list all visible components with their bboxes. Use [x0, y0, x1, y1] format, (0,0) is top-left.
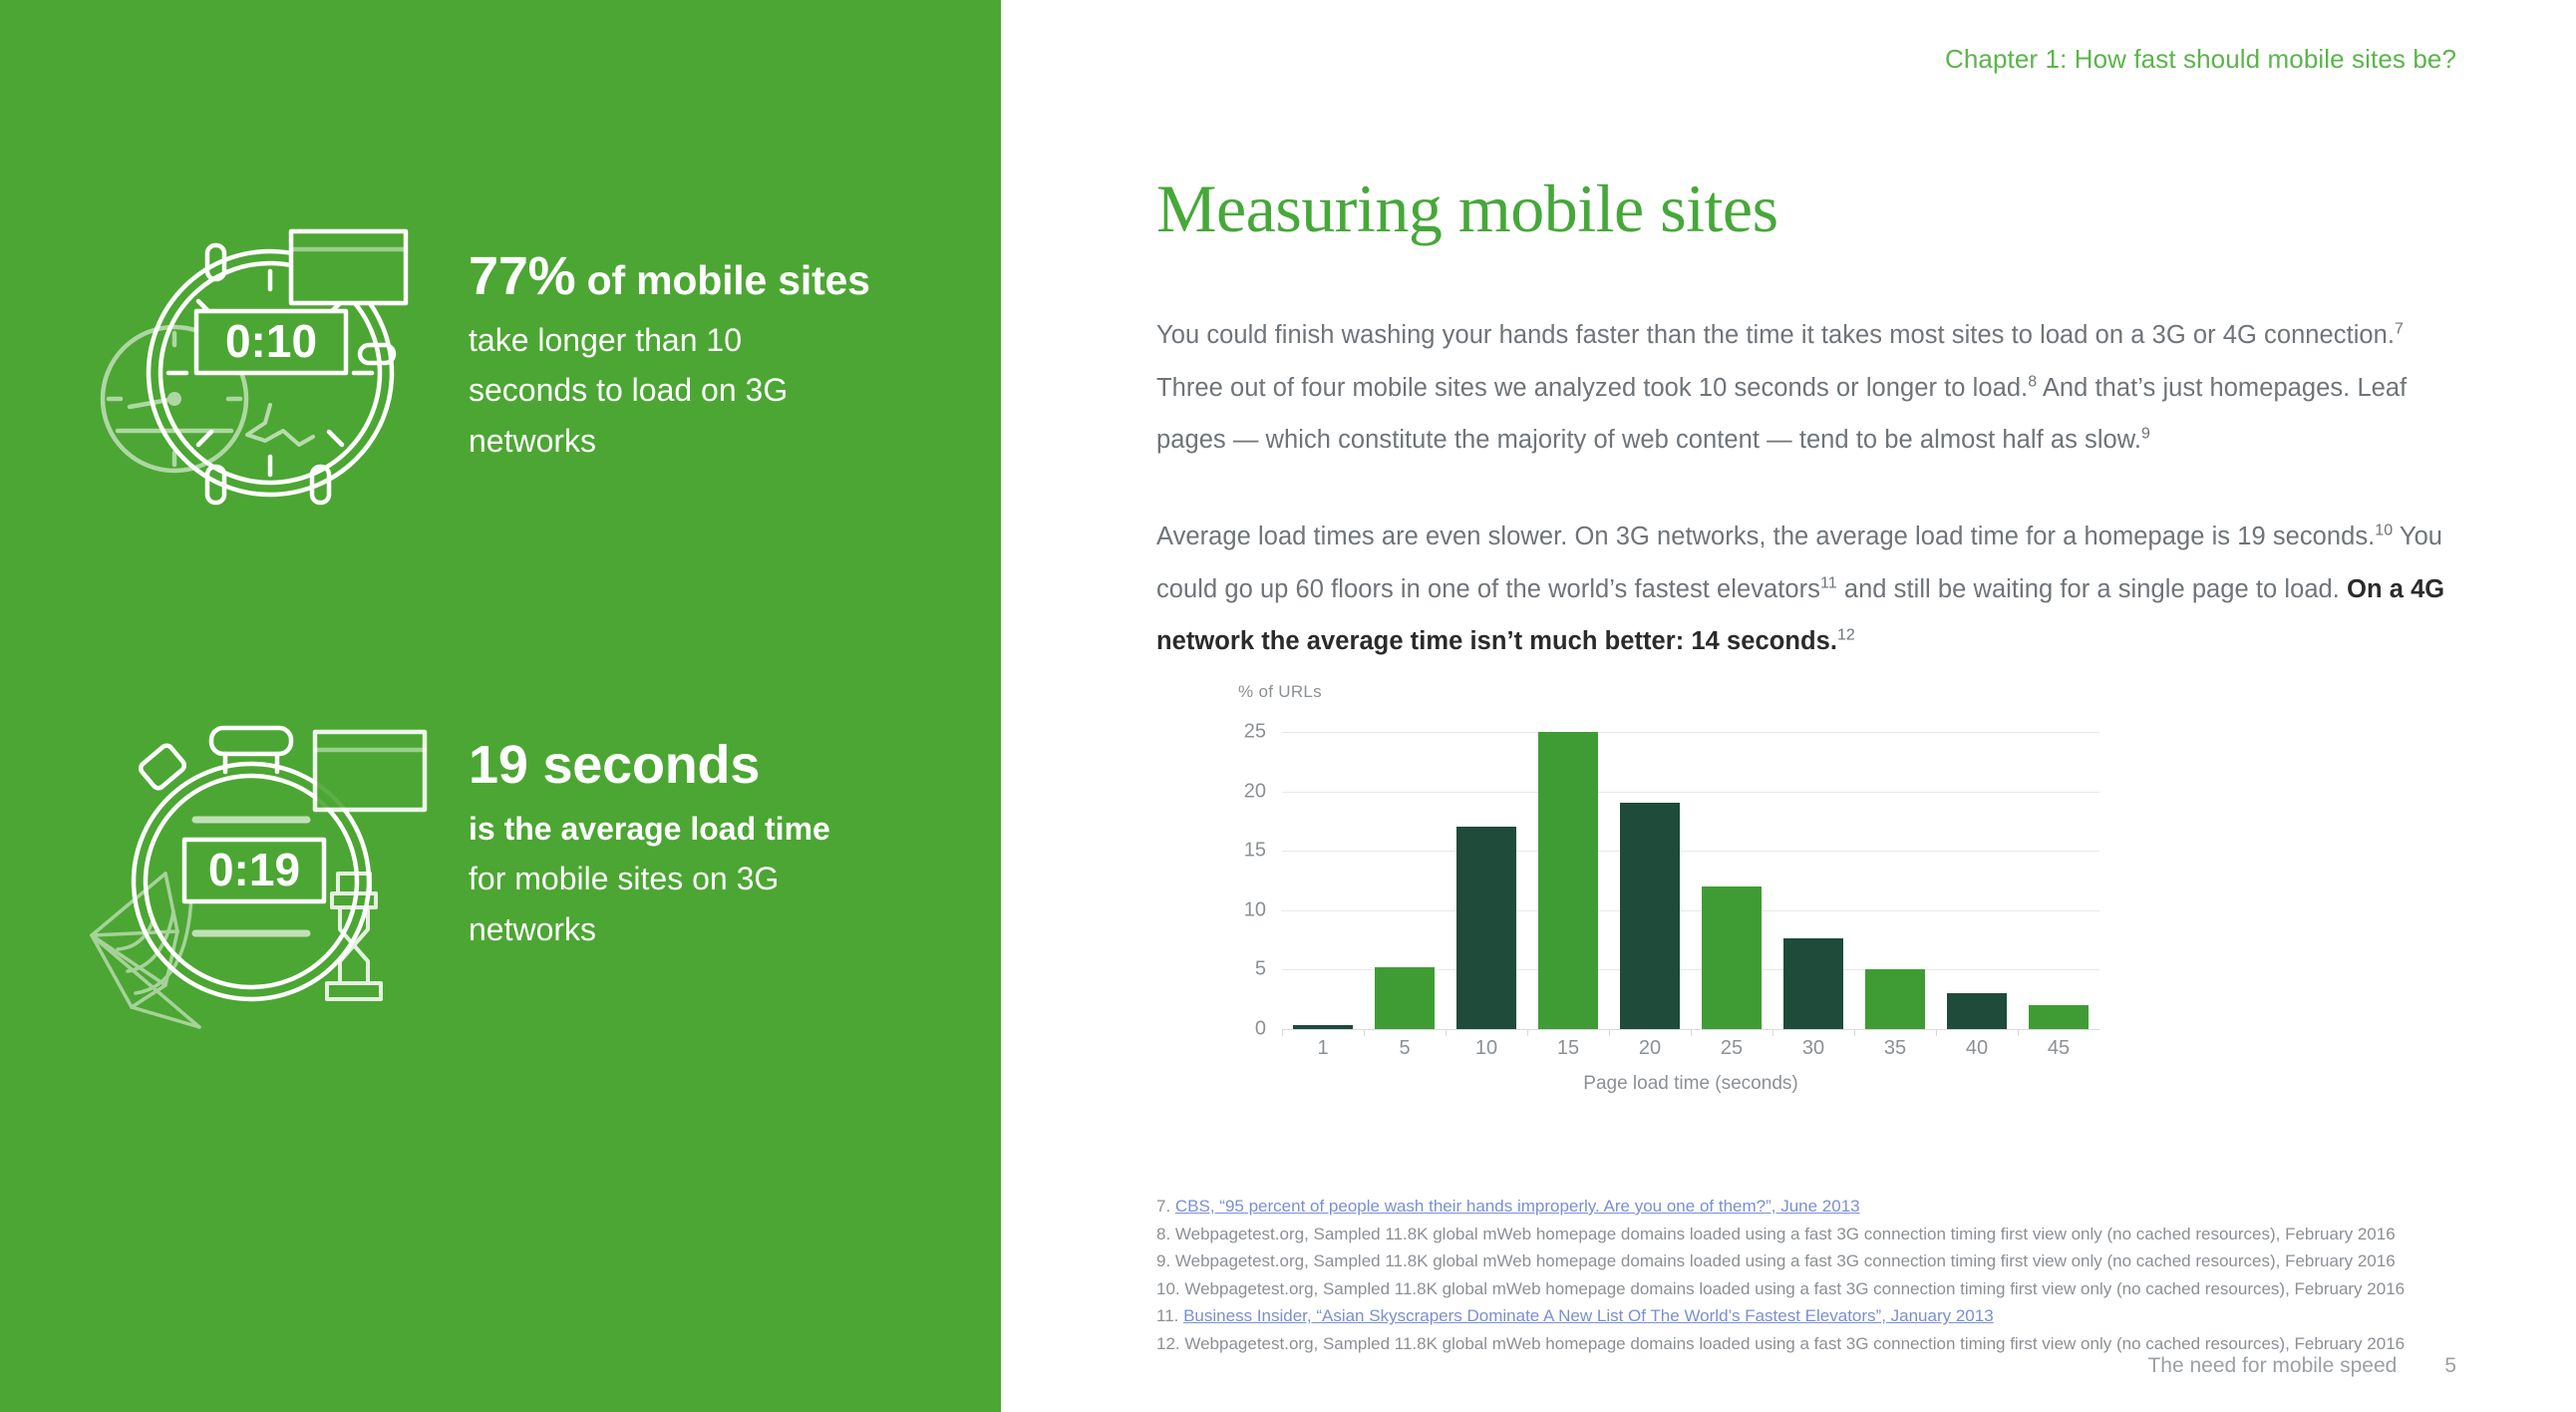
footnote-link[interactable]: CBS, “95 percent of people wash their ha…: [1175, 1197, 1860, 1216]
bar-slot: [1772, 720, 1854, 1029]
stat-headline-1: 77% of mobile sites: [469, 245, 870, 309]
footnote-link[interactable]: Business Insider, “Asian Skyscrapers Dom…: [1183, 1306, 1994, 1325]
footnote-text: Webpagetest.org, Sampled 11.8K global mW…: [1175, 1225, 2396, 1243]
paragraph-1: You could finish washing your hands fast…: [1156, 309, 2472, 467]
bar-25: [1702, 886, 1763, 1029]
footer-page-number: 5: [2444, 1354, 2456, 1378]
x-tick-label: 40: [1936, 1037, 2018, 1060]
chart-bars: [1282, 720, 2099, 1029]
y-tick-label: 0: [1255, 1018, 1266, 1041]
footnote-item: 9. Webpagetest.org, Sampled 11.8K global…: [1156, 1247, 2452, 1275]
stat-headline-2: 19 seconds: [469, 734, 867, 798]
bar-slot: [1609, 720, 1691, 1029]
footnote-text: Webpagetest.org, Sampled 11.8K global mW…: [1184, 1334, 2405, 1353]
bar-35: [1865, 969, 1926, 1029]
footnote-number: 11.: [1156, 1306, 1183, 1325]
bar-slot: [2018, 720, 2099, 1029]
x-tick-label: 45: [2018, 1037, 2099, 1060]
bar-slot: [1527, 720, 1609, 1029]
x-tick-label: 25: [1691, 1037, 1772, 1060]
footnotes-list: 7. CBS, “95 percent of people wash their…: [1156, 1193, 2452, 1357]
stat-block-77-percent: 0:10 77% of mobile sites take longer tha…: [70, 209, 870, 538]
footnote-item: 11. Business Insider, “Asian Skyscrapers…: [1156, 1302, 2452, 1330]
bar-5: [1375, 967, 1436, 1029]
footer-doc-title: The need for mobile speed: [2147, 1354, 2397, 1378]
footnote-ref-7[interactable]: 7: [2395, 321, 2404, 338]
footnote-item: 7. CBS, “95 percent of people wash their…: [1156, 1193, 2452, 1221]
footnote-ref-12[interactable]: 12: [1837, 627, 1855, 644]
p2-text-a: Average load times are even slower. On 3…: [1156, 523, 2375, 550]
chart-plot-area: 0510152025: [1282, 720, 2099, 1029]
chapter-label: Chapter 1: How fast should mobile sites …: [1945, 44, 2456, 75]
stat-text-1: 77% of mobile sites take longer than 10 …: [469, 209, 870, 466]
chart-x-tick-labels: 151015202530354045: [1282, 1037, 2099, 1060]
bar-slot: [1936, 720, 2018, 1029]
stats-panel: 0:10 77% of mobile sites take longer tha…: [0, 0, 1001, 1412]
x-tick-label: 1: [1282, 1037, 1364, 1060]
alarm-clock-cracked-icon: 0:10: [70, 209, 469, 538]
stat-headline-big-1: 77%: [469, 246, 575, 306]
footnote-item: 8. Webpagetest.org, Sampled 11.8K global…: [1156, 1221, 2452, 1248]
bar-slot: [1854, 720, 1936, 1029]
y-tick-label: 20: [1244, 780, 1266, 803]
p2-text-c: and still be waiting for a single page t…: [1837, 575, 2347, 603]
bar-45: [2029, 1005, 2090, 1029]
bar-10: [1456, 827, 1517, 1029]
bar-slot: [1446, 720, 1527, 1029]
y-tick-label: 5: [1255, 958, 1266, 981]
page-footer: The need for mobile speed 5: [2147, 1354, 2456, 1378]
footnote-ref-8[interactable]: 8: [2028, 373, 2037, 390]
footnote-ref-11[interactable]: 11: [1820, 574, 1837, 591]
stat-headline-rest-1: of mobile sites: [575, 257, 869, 303]
chart-x-axis-label: Page load time (seconds): [1282, 1073, 2099, 1095]
x-tick-label: 10: [1446, 1037, 1527, 1060]
bar-1: [1293, 1025, 1354, 1029]
y-tick-label: 10: [1244, 898, 1266, 921]
stat-sub-1: take longer than 10 seconds to load on 3…: [469, 315, 867, 467]
bar-15: [1538, 732, 1599, 1029]
bar-40: [1947, 993, 2008, 1029]
footnote-item: 10. Webpagetest.org, Sampled 11.8K globa…: [1156, 1275, 2452, 1303]
page-title: Measuring mobile sites: [1156, 170, 1778, 248]
p1-text-b: Three out of four mobile sites we analyz…: [1156, 374, 2028, 402]
stat-sub-2: is the average load time for mobile site…: [469, 804, 867, 955]
page-load-time-bar-chart: % of URLs 0510152025 151015202530354045 …: [1190, 682, 2187, 1101]
chart-y-axis-label: % of URLs: [1238, 682, 1322, 702]
footnote-text: Webpagetest.org, Sampled 11.8K global mW…: [1175, 1251, 2396, 1270]
footnote-number: 8.: [1156, 1225, 1175, 1243]
footnote-ref-9[interactable]: 9: [2141, 426, 2150, 443]
article-panel: Chapter 1: How fast should mobile sites …: [1001, 0, 2576, 1412]
clock-display-2: 0:19: [208, 844, 300, 895]
footnote-number: 10.: [1156, 1279, 1184, 1298]
footnote-text: Webpagetest.org, Sampled 11.8K global mW…: [1184, 1279, 2405, 1298]
footnote-ref-10[interactable]: 10: [2375, 523, 2393, 539]
footnote-number: 7.: [1156, 1197, 1175, 1216]
stat-text-2: 19 seconds is the average load time for …: [469, 698, 867, 954]
x-tick-label: 15: [1527, 1037, 1609, 1060]
y-tick-label: 25: [1244, 720, 1266, 743]
stat-sub-rest-2: for mobile sites on 3G networks: [469, 861, 779, 947]
footnote-number: 12.: [1156, 1334, 1184, 1353]
bar-slot: [1691, 720, 1772, 1029]
y-tick-label: 15: [1244, 840, 1266, 863]
x-tick-label: 30: [1772, 1037, 1854, 1060]
x-tick-label: 20: [1609, 1037, 1691, 1060]
bar-slot: [1282, 720, 1364, 1029]
bar-20: [1620, 803, 1681, 1029]
paragraph-2: Average load times are even slower. On 3…: [1156, 511, 2472, 668]
bar-30: [1783, 938, 1844, 1029]
p1-text-a: You could finish washing your hands fast…: [1156, 321, 2395, 349]
clock-display-1: 0:10: [225, 315, 317, 367]
stat-block-19-seconds: 0:19 19 seconds is the average load time…: [70, 698, 867, 1047]
x-tick-label: 5: [1364, 1037, 1446, 1060]
stat-headline-big-2: 19 seconds: [469, 735, 760, 795]
document-page: 0:10 77% of mobile sites take longer tha…: [0, 0, 2576, 1412]
stopwatch-cobweb-icon: 0:19: [70, 698, 469, 1047]
footnote-number: 9.: [1156, 1251, 1175, 1270]
bar-slot: [1364, 720, 1446, 1029]
x-tick-label: 35: [1854, 1037, 1936, 1060]
stat-sub-bold-2: is the average load time: [469, 811, 830, 847]
